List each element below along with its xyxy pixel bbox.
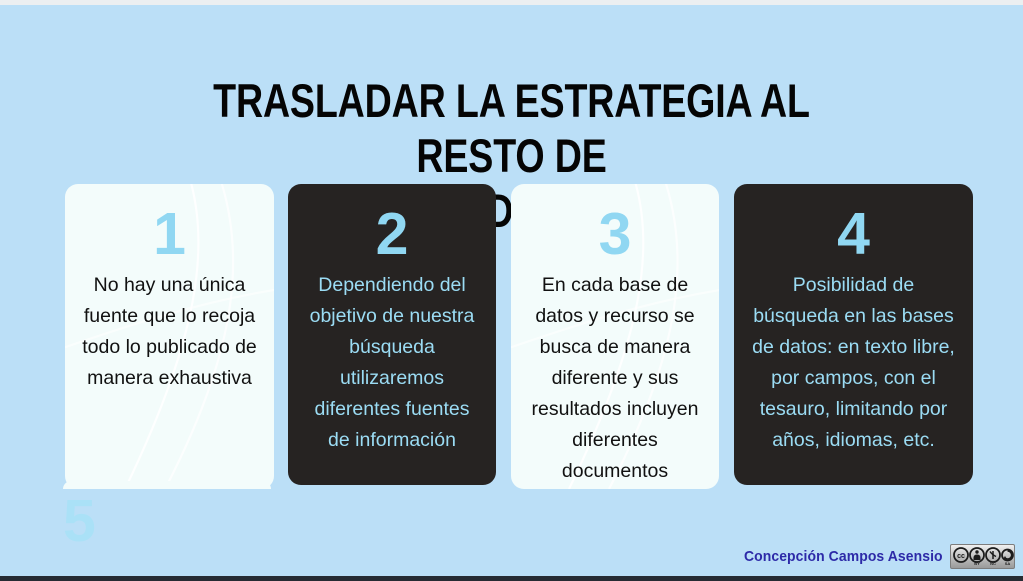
top-edge-strip <box>0 0 1023 5</box>
card-number: 2 <box>376 200 409 268</box>
svg-text:NC: NC <box>990 561 996 566</box>
card-text: Posibilidad de búsqueda en las bases de … <box>748 270 959 456</box>
author-name: Concepción Campos Asensio <box>744 548 943 565</box>
svg-text:cc: cc <box>957 553 965 560</box>
bottom-edge-strip <box>0 576 1023 581</box>
card-number: 3 <box>599 200 632 268</box>
info-card-3[interactable]: 3 En cada base de datos y recurso se bus… <box>511 184 719 489</box>
footer-attribution: Concepción Campos Asensio cc BY NC SA <box>729 544 1015 569</box>
card-number: 1 <box>153 200 186 268</box>
card-text: No hay una única fuente que lo recoja to… <box>79 270 260 394</box>
card-number: 4 <box>837 200 870 268</box>
svg-text:SA: SA <box>1005 561 1011 566</box>
info-card-1[interactable]: 1 No hay una única fuente que lo recoja … <box>65 184 274 489</box>
info-card-4[interactable]: 4 Posibilidad de búsqueda en las bases d… <box>734 184 973 485</box>
offscreen-card-number-5: 5 <box>63 487 163 557</box>
cc-by-nc-sa-icon[interactable]: cc BY NC SA <box>950 544 1015 569</box>
svg-text:BY: BY <box>974 561 980 566</box>
info-card-2[interactable]: 2 Dependiendo del objetivo de nuestra bú… <box>288 184 496 485</box>
card-text: En cada base de datos y recurso se busca… <box>525 270 705 487</box>
slide-canvas: TRASLADAR LA ESTRATEGIA AL RESTO DE BASE… <box>0 0 1023 581</box>
card-text: Dependiendo del objetivo de nuestra búsq… <box>302 270 482 456</box>
